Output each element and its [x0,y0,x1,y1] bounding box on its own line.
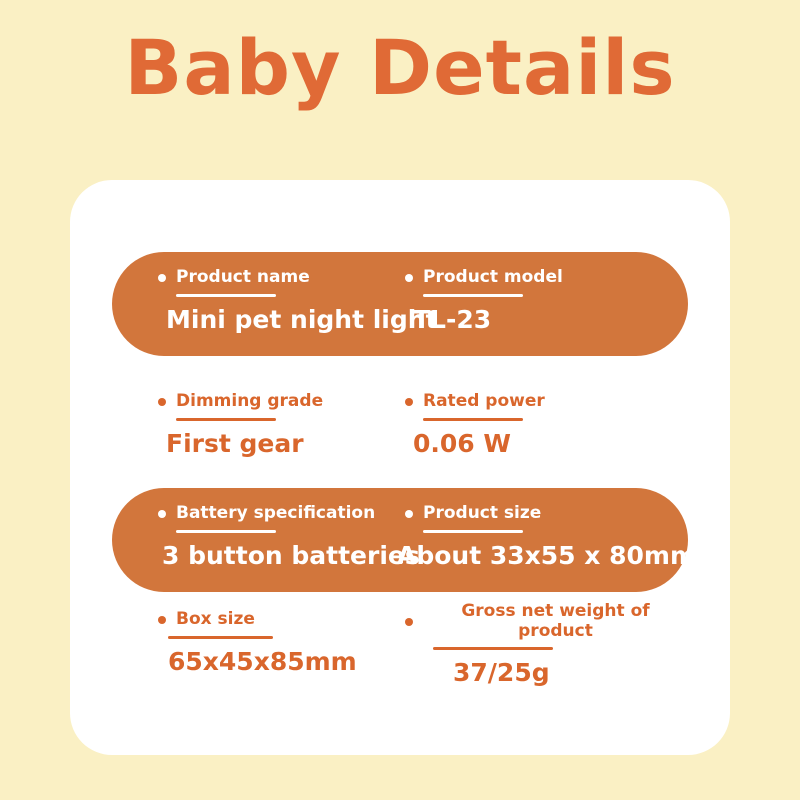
detail-label: Dimming grade [176,392,323,412]
detail-label: Product model [423,268,563,288]
detail-label-line: Product size [405,504,541,524]
detail-label: Gross net weight of product [423,602,688,641]
detail-item-gross-net-weight: Gross net weight of product 37/25g [395,600,688,710]
detail-label: Battery specification [176,504,375,524]
detail-item-product-size: Product size About 33x55 x 80mm [395,488,688,592]
detail-item-product-model: Product model TL-23 [395,252,688,356]
detail-value: First gear [166,429,304,459]
detail-item-battery-specification: Battery specification 3 button batteries [112,488,395,592]
detail-value: About 33x55 x 80mm [397,541,696,571]
detail-label-line: Gross net weight of product [405,602,688,641]
bullet-icon [158,510,166,518]
label-underline [168,636,273,639]
label-underline [176,294,276,297]
detail-item-product-name: Product name Mini pet night light [112,252,395,356]
bullet-icon [158,398,166,406]
detail-label-line: Box size [158,610,255,630]
detail-value: 37/25g [453,658,550,688]
detail-label-line: Battery specification [158,504,375,524]
detail-label-line: Product name [158,268,310,288]
detail-label: Product name [176,268,310,288]
detail-value: TL-23 [413,305,491,335]
label-underline [433,647,553,650]
bullet-icon [405,510,413,518]
detail-label-line: Product model [405,268,563,288]
bullet-icon [405,274,413,282]
details-row-4: Box size 65x45x85mm Gross net weight of … [112,600,688,710]
label-underline [423,294,523,297]
detail-value: 3 button batteries [162,541,420,571]
details-card: Product name Mini pet night light Produc… [70,180,730,755]
details-row-1: Product name Mini pet night light Produc… [112,252,688,356]
label-underline [423,418,523,421]
bullet-icon [405,618,413,626]
bullet-icon [158,274,166,282]
label-underline [176,530,276,533]
page-title: Baby Details [0,28,800,108]
detail-item-dimming-grade: Dimming grade First gear [112,376,395,468]
detail-label-line: Dimming grade [158,392,323,412]
label-underline [176,418,276,421]
detail-label-line: Rated power [405,392,545,412]
detail-value: 65x45x85mm [168,647,357,677]
bullet-icon [405,398,413,406]
label-underline [423,530,523,533]
detail-item-rated-power: Rated power 0.06 W [395,376,688,468]
detail-label: Rated power [423,392,545,412]
detail-label: Box size [176,610,255,630]
detail-label: Product size [423,504,541,524]
detail-item-box-size: Box size 65x45x85mm [112,600,395,710]
bullet-icon [158,616,166,624]
baby-details-page: Baby Details Product name Mini pet night… [0,0,800,800]
details-row-3: Battery specification 3 button batteries… [112,488,688,592]
detail-value: 0.06 W [413,429,511,459]
details-row-2: Dimming grade First gear Rated power 0.0… [112,376,688,468]
